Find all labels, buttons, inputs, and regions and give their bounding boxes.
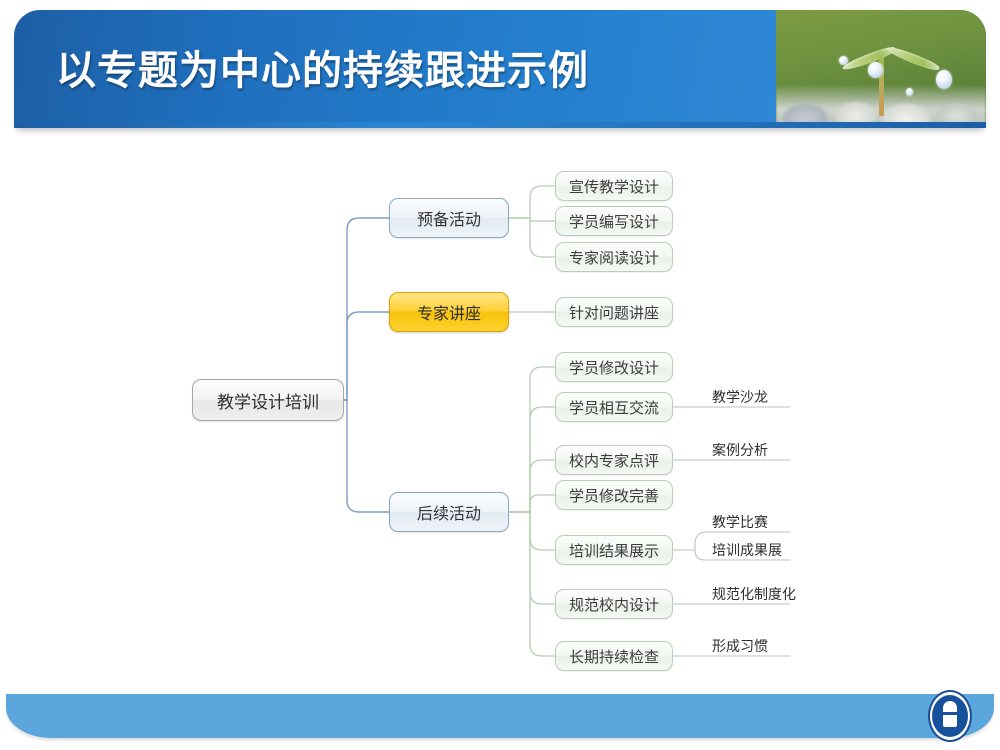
mindmap-leaf-node[interactable]: 长期持续检查: [555, 641, 673, 671]
node-label: 学员相互交流: [569, 397, 659, 418]
logo-crest-bar: [940, 712, 960, 715]
slide-header-banner: 以专题为中心的持续跟进示例: [14, 10, 986, 128]
mindmap-leaf-node[interactable]: 培训结果展示: [555, 535, 673, 565]
mindmap-leaf-node[interactable]: 宣传教学设计: [555, 171, 673, 201]
node-label: 规范校内设计: [569, 594, 659, 615]
node-label: 专家阅读设计: [569, 247, 659, 268]
slide-footer-band: [6, 694, 994, 738]
mindmap-leaf-node[interactable]: 学员相互交流: [555, 392, 673, 422]
node-label: 宣传教学设计: [569, 176, 659, 197]
mindmap-branch-node-1[interactable]: 预备活动: [389, 198, 509, 238]
mindmap-leaf-node[interactable]: 专家阅读设计: [555, 242, 673, 272]
mindmap-leaf-node[interactable]: 规范校内设计: [555, 589, 673, 619]
mindmap-note-label: 规范化制度化: [712, 584, 796, 604]
node-label: 教学设计培训: [217, 388, 319, 413]
seedling-photo: [776, 10, 986, 128]
node-label: 针对问题讲座: [569, 302, 659, 323]
mindmap-leaf-node[interactable]: 校内专家点评: [555, 445, 673, 475]
mindmap-root-node[interactable]: 教学设计培训: [192, 379, 344, 421]
mindmap-note-label: 教学沙龙: [712, 387, 768, 407]
node-label: 专家讲座: [417, 300, 481, 324]
node-label: 后续活动: [417, 500, 481, 524]
mindmap-branch-node-3[interactable]: 后续活动: [389, 492, 509, 532]
mindmap-leaf-node[interactable]: 针对问题讲座: [555, 297, 673, 327]
node-label: 长期持续检查: [569, 646, 659, 667]
photo-dewdrop: [936, 70, 952, 89]
mindmap-diagram: 教学设计培训预备活动宣传教学设计学员编写设计专家阅读设计专家讲座针对问题讲座后续…: [0, 140, 1000, 685]
photo-dewdrop: [839, 56, 848, 65]
mindmap-leaf-node[interactable]: 学员修改完善: [555, 480, 673, 510]
mindmap-note-label: 培训成果展: [712, 540, 782, 560]
node-label: 校内专家点评: [569, 450, 659, 471]
mindmap-note-label: 教学比赛: [712, 512, 768, 532]
mindmap-leaf-node[interactable]: 学员编写设计: [555, 206, 673, 236]
slide-canvas: 以专题为中心的持续跟进示例 教学设计培训预备活动宣传教学设计学员编写设计专家阅读…: [0, 0, 1000, 750]
university-emblem-logo: [928, 690, 972, 742]
node-label: 学员修改设计: [569, 357, 659, 378]
node-label: 学员编写设计: [569, 211, 659, 232]
node-label: 学员修改完善: [569, 485, 659, 506]
mindmap-note-label: 案例分析: [712, 440, 768, 460]
node-label: 培训结果展示: [569, 540, 659, 561]
node-label: 预备活动: [417, 206, 481, 230]
mindmap-branch-node-2[interactable]: 专家讲座: [389, 292, 509, 332]
mindmap-note-label: 形成习惯: [712, 636, 768, 656]
page-title: 以专题为中心的持续跟进示例: [56, 38, 589, 96]
mindmap-leaf-node[interactable]: 学员修改设计: [555, 352, 673, 382]
